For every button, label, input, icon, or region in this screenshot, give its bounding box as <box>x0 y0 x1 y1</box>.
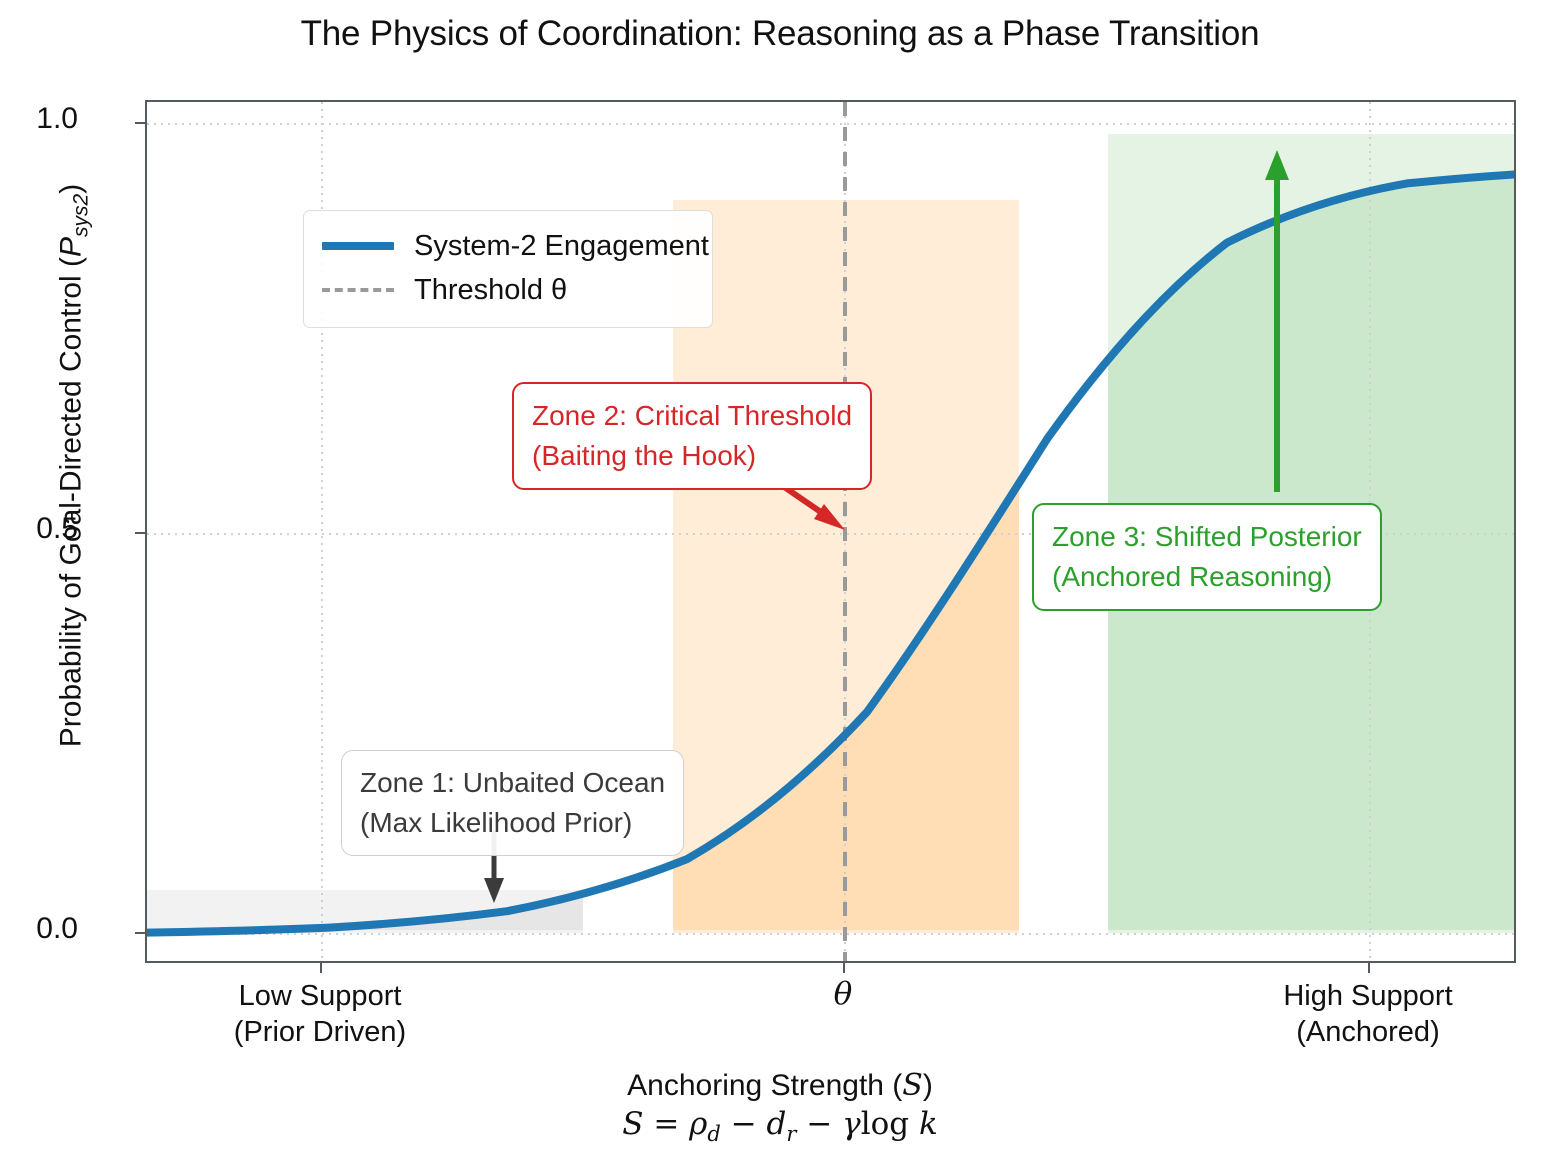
formula-gamma: γ <box>842 1106 861 1142</box>
chart-legend: System-2 Engagement Threshold θ <box>303 210 713 328</box>
formula-S: S <box>622 1106 643 1142</box>
y-tick-mark-3 <box>135 932 145 934</box>
zone-1-annotation-line1: Zone 1: Unbaited Ocean <box>360 763 665 803</box>
x-tick-label-low: Low Support (Prior Driven) <box>160 978 480 1050</box>
x-axis-label: Anchoring Strength (S) <box>0 1068 1560 1103</box>
y-axis-label-close: ) <box>55 184 88 194</box>
x-axis-formula: S = ρd − dr − γlog k <box>0 1106 1560 1146</box>
zone-3-annotation: Zone 3: Shifted Posterior (Anchored Reas… <box>1032 503 1382 611</box>
x-tick-label-low-line2: (Prior Driven) <box>160 1014 480 1050</box>
y-axis-label-subscript: sys2 <box>70 194 93 237</box>
formula-rho: ρ <box>689 1106 707 1142</box>
zone-2-annotation-line1: Zone 2: Critical Threshold <box>532 396 852 436</box>
formula-minus-2: − <box>806 1106 832 1142</box>
zone-2-annotation-line2: (Baiting the Hook) <box>532 436 852 476</box>
formula-equals: = <box>653 1106 679 1142</box>
chart-figure: The Physics of Coordination: Reasoning a… <box>0 0 1560 1170</box>
x-axis-label-symbol: S <box>902 1068 923 1103</box>
y-axis-label-symbol: P <box>55 237 88 257</box>
zone-1-annotation-line2: (Max Likelihood Prior) <box>360 803 665 843</box>
y-axis-label: Probability of Goal-Directed Control (Ps… <box>55 56 94 876</box>
x-tick-mark-theta <box>843 963 845 973</box>
legend-label-threshold: Threshold θ <box>414 274 567 307</box>
y-tick-label-3: 0.0 <box>0 912 78 946</box>
zone-3-annotation-line1: Zone 3: Shifted Posterior <box>1052 517 1362 557</box>
y-tick-mark-1 <box>135 122 145 124</box>
formula-d-sub: r <box>786 1122 796 1146</box>
zone-1-annotation: Zone 1: Unbaited Ocean (Max Likelihood P… <box>341 750 684 856</box>
formula-k: k <box>919 1106 938 1142</box>
x-tick-label-high: High Support (Anchored) <box>1208 978 1528 1050</box>
y-axis-label-text: Probability of Goal-Directed Control ( <box>55 257 88 747</box>
zone-2-annotation: Zone 2: Critical Threshold (Baiting the … <box>512 382 872 490</box>
x-tick-label-low-line1: Low Support <box>160 978 480 1014</box>
zone-3-annotation-line2: (Anchored Reasoning) <box>1052 557 1362 597</box>
formula-rho-sub: d <box>707 1122 720 1146</box>
x-tick-label-high-line1: High Support <box>1208 978 1528 1014</box>
solid-line-swatch-icon <box>322 242 394 250</box>
dashed-line-swatch-icon <box>322 288 394 292</box>
legend-item-threshold[interactable]: Threshold θ <box>322 268 694 312</box>
legend-item-system2[interactable]: System-2 Engagement <box>322 224 694 268</box>
formula-minus-1: − <box>731 1106 757 1142</box>
x-tick-label-high-line2: (Anchored) <box>1208 1014 1528 1050</box>
y-tick-mark-2 <box>135 532 145 534</box>
legend-label-system2: System-2 Engagement <box>414 230 709 263</box>
chart-title: The Physics of Coordination: Reasoning a… <box>0 14 1560 54</box>
x-tick-mark-low <box>320 963 322 973</box>
x-axis-label-text: Anchoring Strength ( <box>627 1069 902 1102</box>
formula-log: log <box>861 1106 909 1142</box>
x-tick-mark-high <box>1368 963 1370 973</box>
x-tick-label-theta: θ <box>683 976 1003 1012</box>
formula-d: d <box>767 1106 787 1142</box>
x-axis-label-close: ) <box>923 1069 933 1102</box>
